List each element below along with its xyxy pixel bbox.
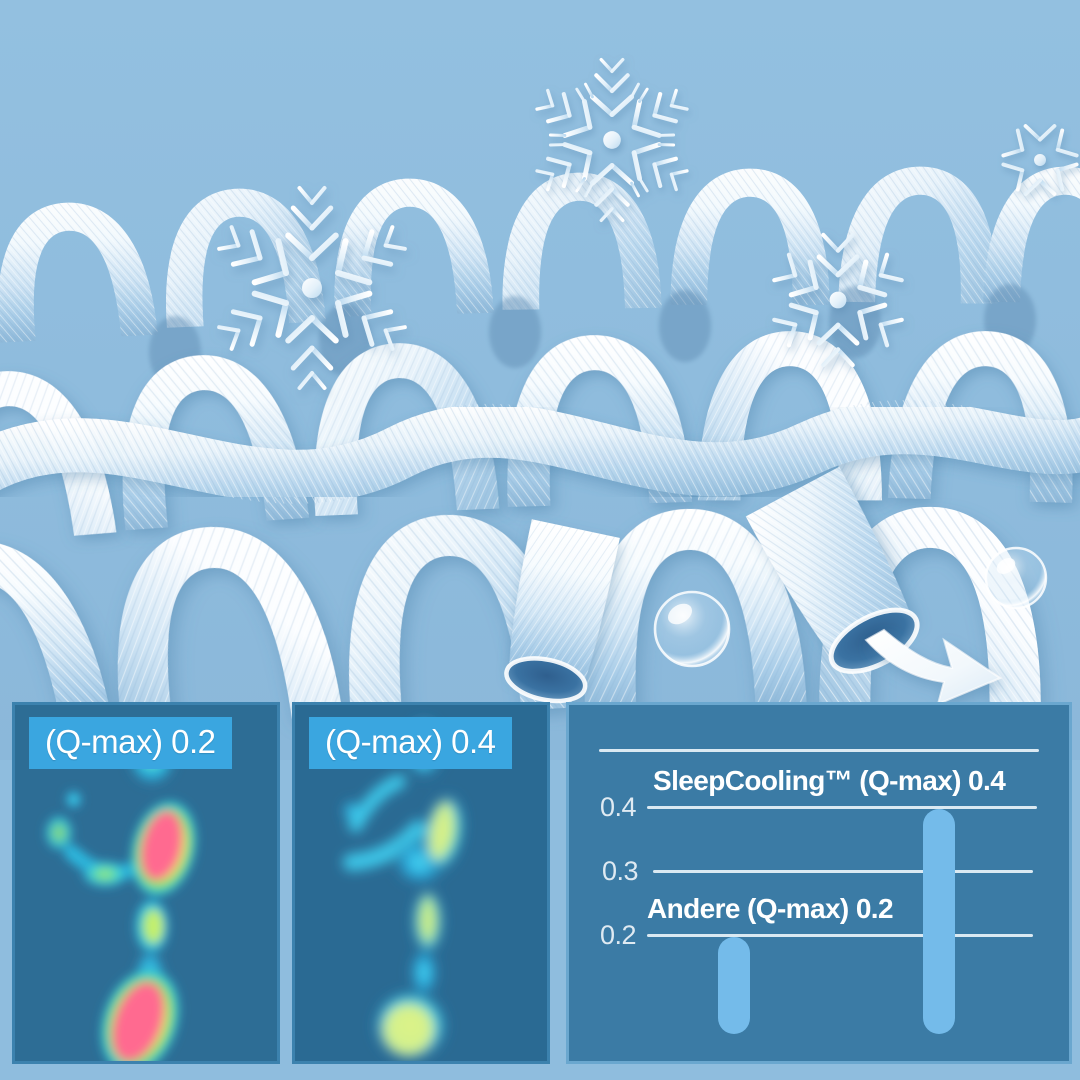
gridline-0-3 <box>653 870 1033 873</box>
gridline-0-4 <box>647 806 1037 809</box>
qmax-badge-warm: (Q-max) 0.2 <box>29 717 232 769</box>
water-bubble-icon <box>655 592 729 666</box>
gridline-0-2 <box>647 934 1033 937</box>
qmax-bar-chart-panel[interactable]: 0.4 0.3 0.2 SleepCooling™ (Q-max) 0.4 An… <box>566 702 1072 1064</box>
thermal-panel-warm[interactable]: (Q-max) 0.2 <box>12 702 280 1064</box>
fabric-illustration-svg <box>0 0 1080 760</box>
y-tick-0-4: 0.4 <box>600 794 636 821</box>
cooling-fabric-macro-illustration <box>0 0 1080 760</box>
comparison-panel-strip: (Q-max) 0.2 <box>0 698 1080 1080</box>
bar-sleepcooling <box>923 809 955 1034</box>
series-label-sleepcooling: SleepCooling™ (Q-max) 0.4 <box>653 767 1005 795</box>
y-tick-0-2: 0.2 <box>600 922 636 949</box>
qmax-badge-cool: (Q-max) 0.4 <box>309 717 512 769</box>
water-bubble-icon <box>986 548 1046 608</box>
chart-plot-area: 0.4 0.3 0.2 SleepCooling™ (Q-max) 0.4 An… <box>569 705 1069 1061</box>
series-label-andere: Andere (Q-max) 0.2 <box>647 895 893 923</box>
product-infographic: (Q-max) 0.2 <box>0 0 1080 1080</box>
gridline-0-5 <box>599 749 1039 752</box>
thermal-panel-cool[interactable]: (Q-max) 0.4 <box>292 702 550 1064</box>
bar-andere <box>718 937 750 1034</box>
y-tick-0-3: 0.3 <box>602 858 638 885</box>
